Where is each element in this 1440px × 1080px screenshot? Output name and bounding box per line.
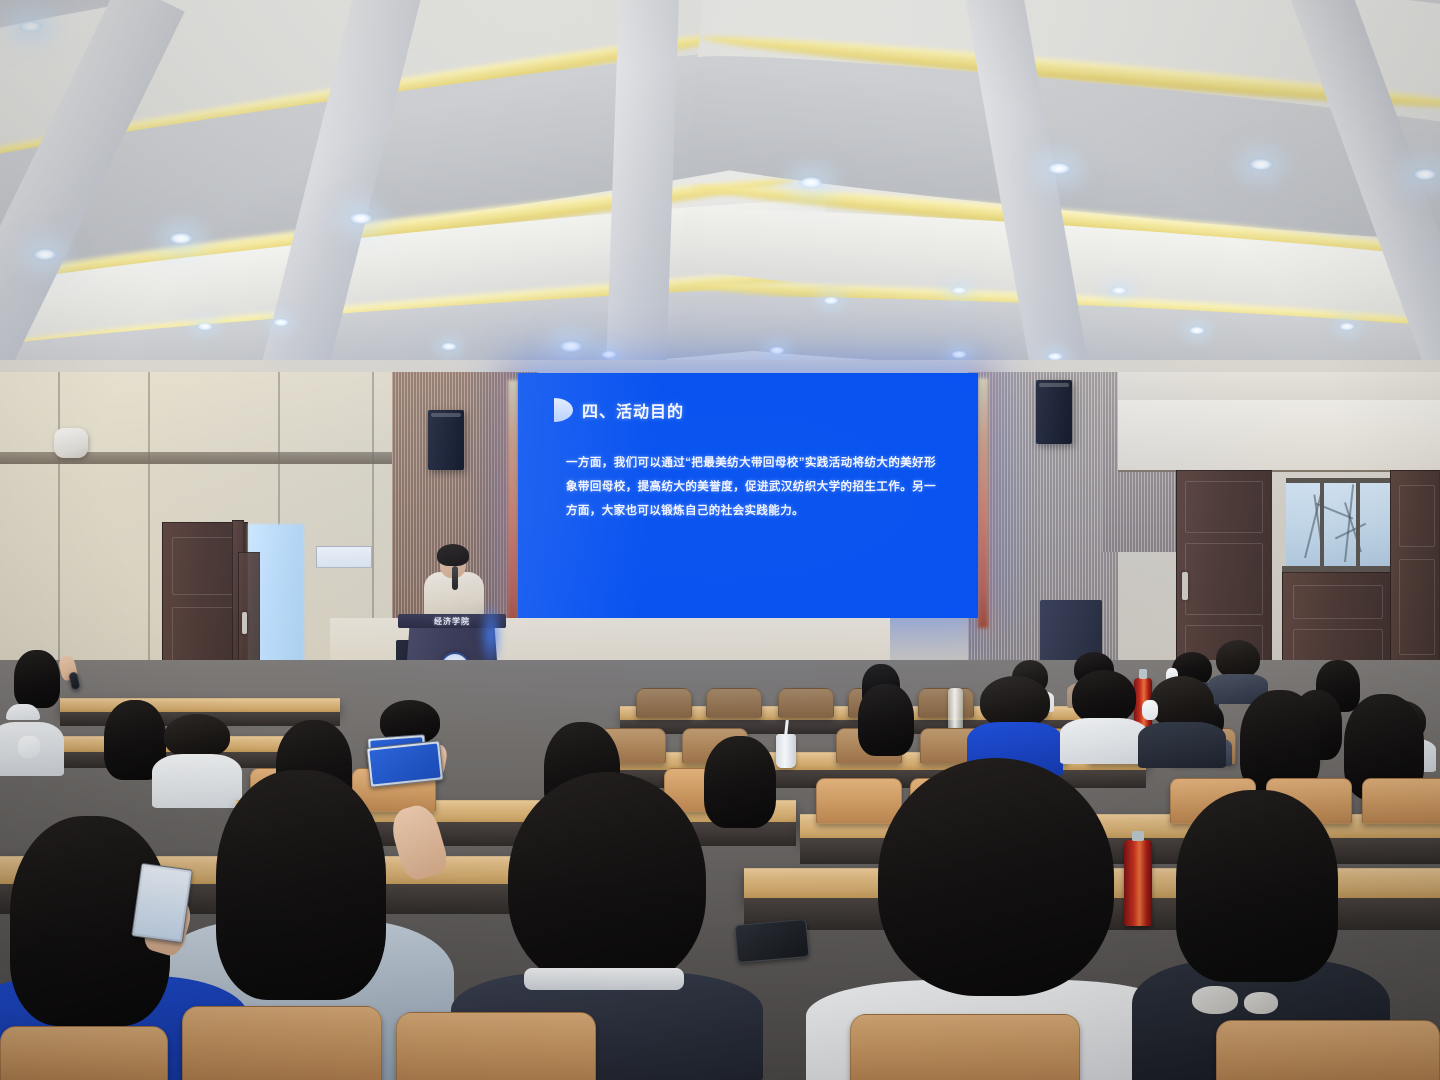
chair[interactable] bbox=[778, 688, 834, 718]
chair[interactable] bbox=[1362, 778, 1440, 824]
slide-title-row: 四、活动目的 bbox=[558, 398, 684, 422]
downlight-icon bbox=[168, 232, 194, 245]
presentation-screen: 四、活动目的 一方面，我们可以通过“把最美纺大带回母校”实践活动将纺大的美好形象… bbox=[518, 373, 978, 618]
audience-person bbox=[858, 684, 914, 762]
chair[interactable] bbox=[396, 1012, 596, 1080]
downlight-icon bbox=[950, 286, 968, 295]
window bbox=[1286, 480, 1390, 568]
downlight-icon bbox=[348, 212, 374, 225]
loudspeaker-icon bbox=[54, 428, 88, 458]
phone-screen bbox=[134, 866, 189, 940]
downlight-icon bbox=[1188, 326, 1206, 335]
door-handle-icon[interactable] bbox=[1182, 572, 1188, 600]
downlight-icon bbox=[32, 248, 58, 261]
door-panel bbox=[1399, 485, 1435, 547]
loudspeaker-icon bbox=[428, 410, 464, 470]
presenter-hair bbox=[437, 544, 469, 566]
window-mullion bbox=[1320, 480, 1324, 568]
bullet-marker-icon bbox=[554, 398, 573, 422]
downlight-icon bbox=[1110, 286, 1128, 295]
chair[interactable] bbox=[706, 688, 762, 718]
wall-sign bbox=[316, 546, 372, 568]
face-mask bbox=[1142, 700, 1158, 720]
audience-person bbox=[1072, 670, 1136, 762]
downlight-icon bbox=[950, 350, 968, 359]
person-head bbox=[14, 650, 60, 708]
accent-light-strip bbox=[508, 380, 518, 630]
right-wall-panel bbox=[1118, 400, 1440, 470]
downlight-icon bbox=[1046, 162, 1072, 175]
microphone-icon bbox=[452, 566, 458, 590]
downlight-icon bbox=[600, 350, 618, 359]
phone-screen bbox=[369, 744, 440, 785]
person-head bbox=[1176, 790, 1338, 982]
chair[interactable] bbox=[918, 688, 974, 718]
door-panel bbox=[1185, 481, 1263, 533]
person-head bbox=[980, 676, 1050, 728]
person-head bbox=[1216, 640, 1260, 678]
person-head bbox=[1150, 676, 1214, 728]
person-head bbox=[164, 714, 230, 758]
person-head bbox=[878, 758, 1114, 996]
slide-title: 四、活动目的 bbox=[582, 398, 684, 422]
downlight-icon bbox=[1412, 168, 1438, 181]
accent-light-strip bbox=[978, 378, 988, 628]
chair[interactable] bbox=[1216, 1020, 1440, 1080]
person-head bbox=[1072, 670, 1136, 724]
ceiling bbox=[0, 0, 1440, 375]
lecture-hall-photo: 四、活动目的 一方面，我们可以通过“把最美纺大带回母校”实践活动将纺大的美好形象… bbox=[0, 0, 1440, 1080]
downlight-icon bbox=[798, 176, 824, 189]
door-panel bbox=[1185, 543, 1263, 615]
downlight-icon bbox=[440, 342, 458, 351]
downlight-icon bbox=[558, 340, 584, 353]
face-mask bbox=[18, 736, 40, 758]
chair[interactable] bbox=[182, 1006, 382, 1080]
downlight-icon bbox=[272, 318, 290, 327]
crumpled-tissue bbox=[1244, 992, 1278, 1014]
downlight-icon bbox=[822, 296, 840, 305]
door-panel bbox=[1399, 559, 1435, 655]
bottle-icon bbox=[948, 688, 963, 732]
panel bbox=[1293, 585, 1383, 619]
window-mullion bbox=[1356, 480, 1360, 568]
person-head bbox=[858, 684, 914, 756]
downlight-icon bbox=[1338, 322, 1356, 331]
person-head bbox=[508, 772, 706, 988]
person-head bbox=[216, 770, 386, 1000]
audience-person bbox=[1150, 676, 1214, 766]
chair[interactable] bbox=[850, 1014, 1080, 1080]
person-torso bbox=[1138, 722, 1225, 768]
smartphone-icon[interactable] bbox=[131, 863, 193, 944]
smartphone-icon[interactable] bbox=[366, 740, 444, 788]
downlight-icon bbox=[1248, 158, 1274, 171]
downlight-icon bbox=[196, 322, 214, 331]
chair[interactable] bbox=[0, 1026, 168, 1080]
crumpled-tissue bbox=[1192, 986, 1238, 1014]
audience-person bbox=[14, 650, 60, 712]
slide-body-text: 一方面，我们可以通过“把最美纺大带回母校”实践活动将纺大的美好形象带回母校，提高… bbox=[566, 451, 936, 523]
smartphone-icon[interactable] bbox=[734, 919, 809, 963]
chair[interactable] bbox=[636, 688, 692, 718]
cup-icon bbox=[776, 734, 796, 768]
loudspeaker-icon bbox=[1036, 380, 1072, 444]
collar bbox=[524, 968, 684, 990]
downlight-icon bbox=[18, 20, 44, 33]
door-handle-icon[interactable] bbox=[242, 612, 247, 634]
window-frame bbox=[1286, 478, 1390, 483]
door-panel bbox=[172, 537, 238, 595]
downlight-icon bbox=[768, 346, 786, 355]
